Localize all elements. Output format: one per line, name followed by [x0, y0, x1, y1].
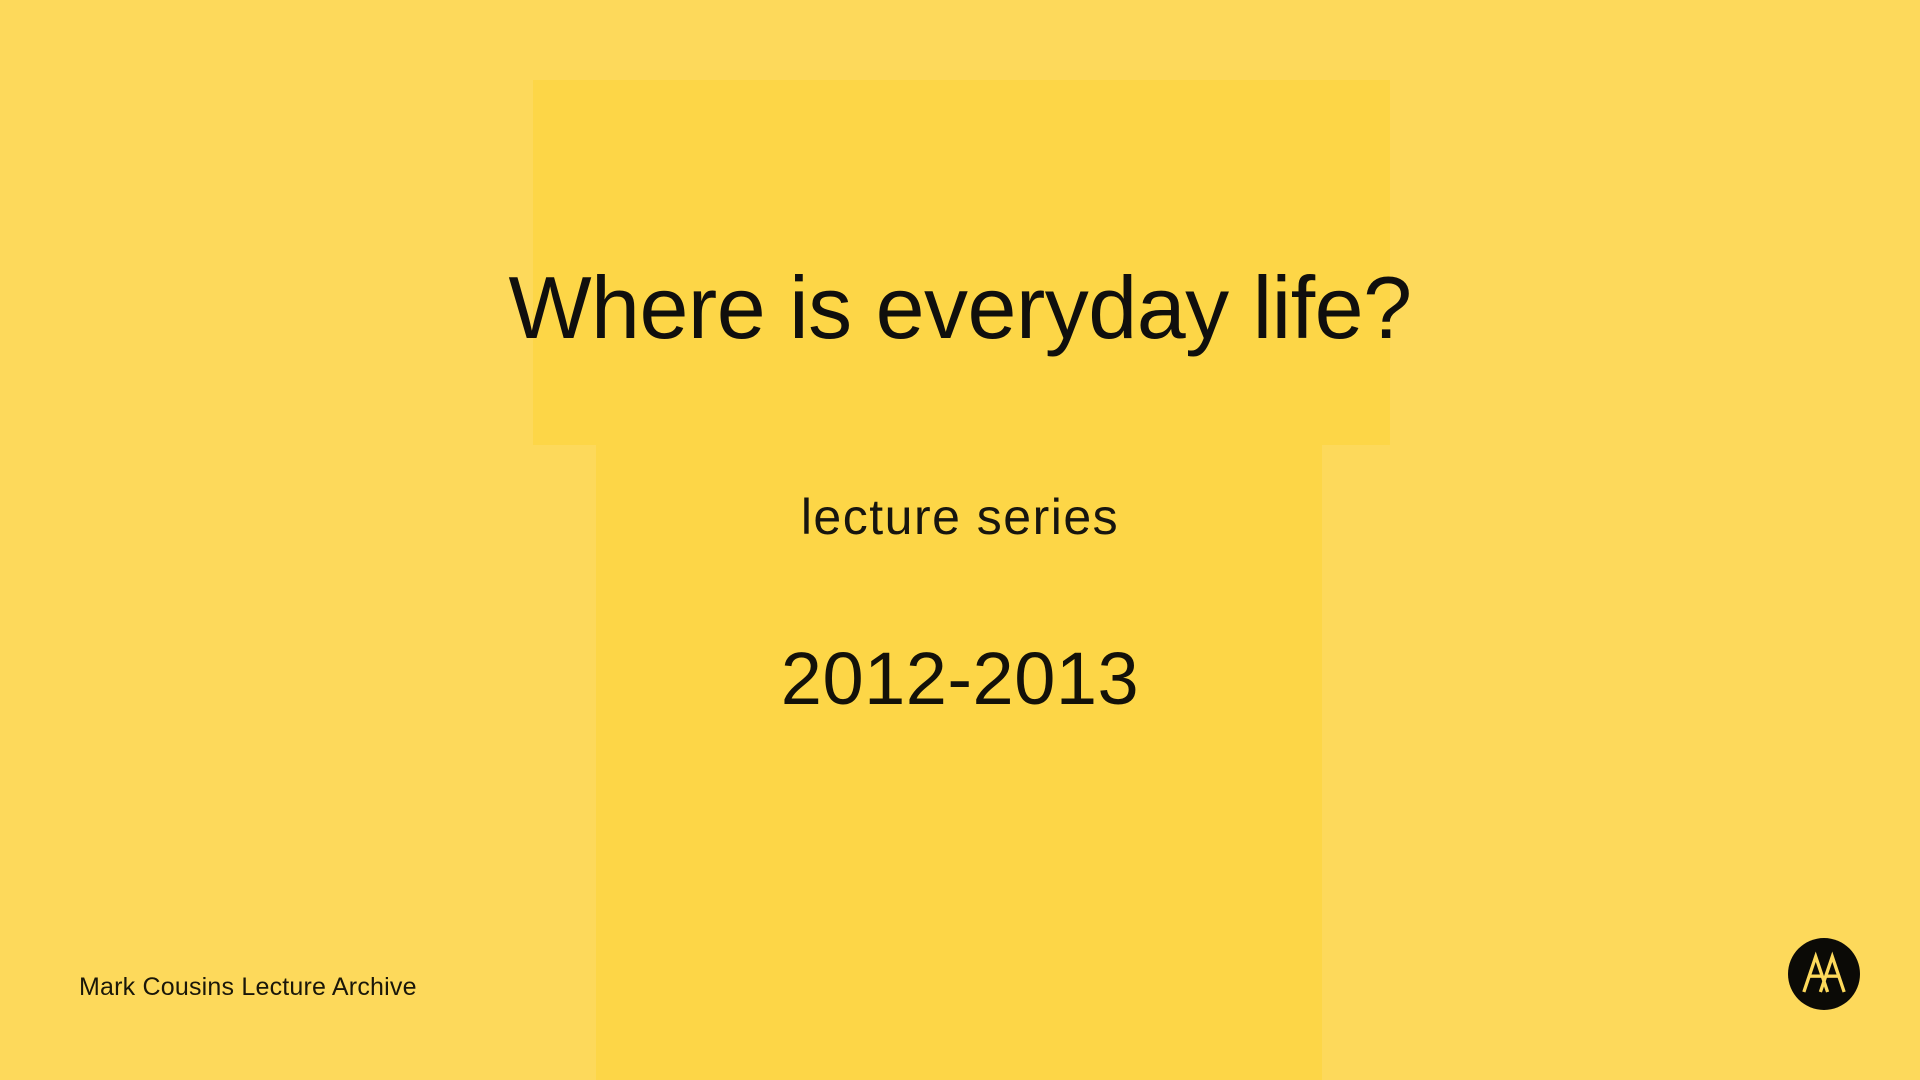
aa-logo-icon [1788, 938, 1860, 1010]
archive-caption: Mark Cousins Lecture Archive [79, 975, 417, 1000]
page-title: Where is everyday life? [0, 262, 1920, 354]
slide-subtitle: lecture series [0, 490, 1920, 545]
lecture-title-slide: Where is everyday life? lecture series 2… [0, 0, 1920, 1080]
slide-years: 2012-2013 [0, 638, 1920, 719]
